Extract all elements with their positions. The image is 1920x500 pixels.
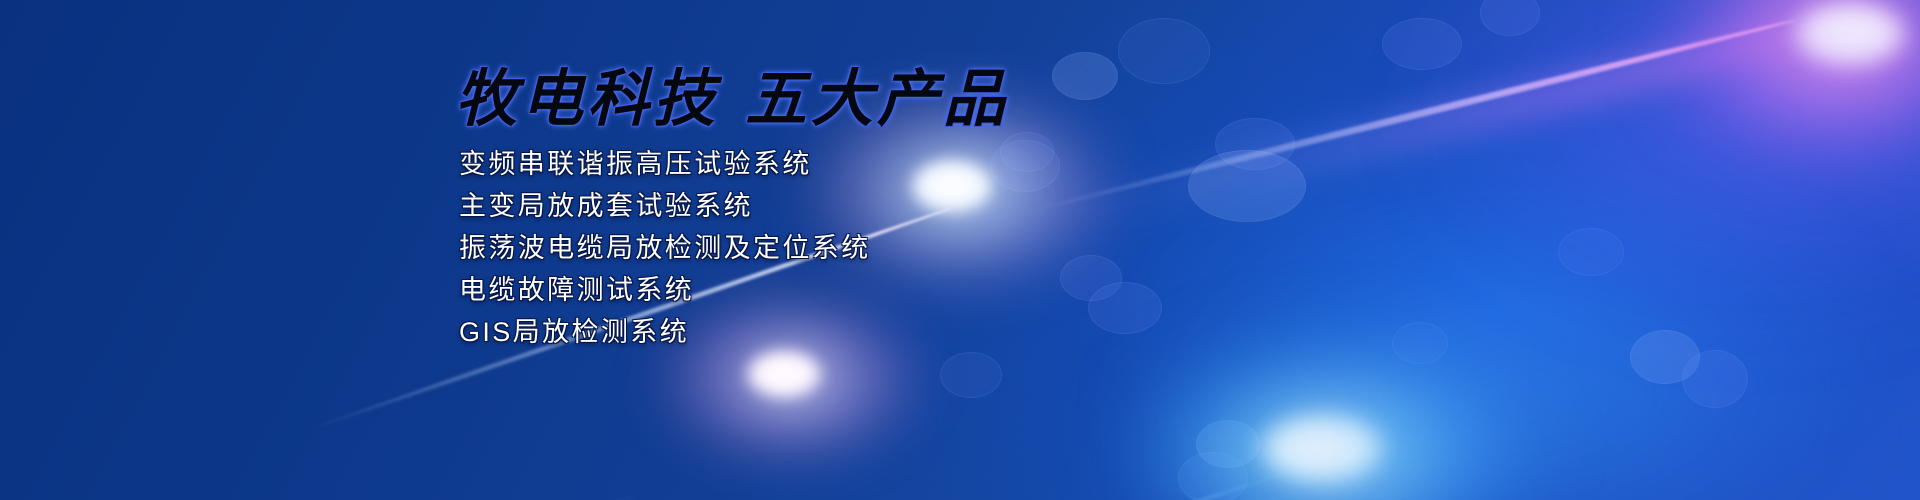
list-item[interactable]: GIS局放检测系统 xyxy=(459,311,871,353)
banner-title-part1: 牧电科技 xyxy=(455,62,719,135)
list-item[interactable]: 电缆故障测试系统 xyxy=(459,269,871,311)
promo-banner: 牧电科技五大产品 变频串联谐振高压试验系统 主变局放成套试验系统 振荡波电缆局放… xyxy=(0,0,1920,500)
product-list: 变频串联谐振高压试验系统 主变局放成套试验系统 振荡波电缆局放检测及定位系统 电… xyxy=(459,143,871,353)
list-item[interactable]: 变频串联谐振高压试验系统 xyxy=(459,143,871,185)
banner-content: 牧电科技五大产品 变频串联谐振高压试验系统 主变局放成套试验系统 振荡波电缆局放… xyxy=(0,0,1920,500)
list-item[interactable]: 主变局放成套试验系统 xyxy=(459,185,871,227)
list-item[interactable]: 振荡波电缆局放检测及定位系统 xyxy=(459,227,871,269)
banner-title-part2: 五大产品 xyxy=(745,62,1009,135)
banner-title: 牧电科技五大产品 xyxy=(455,48,1009,138)
